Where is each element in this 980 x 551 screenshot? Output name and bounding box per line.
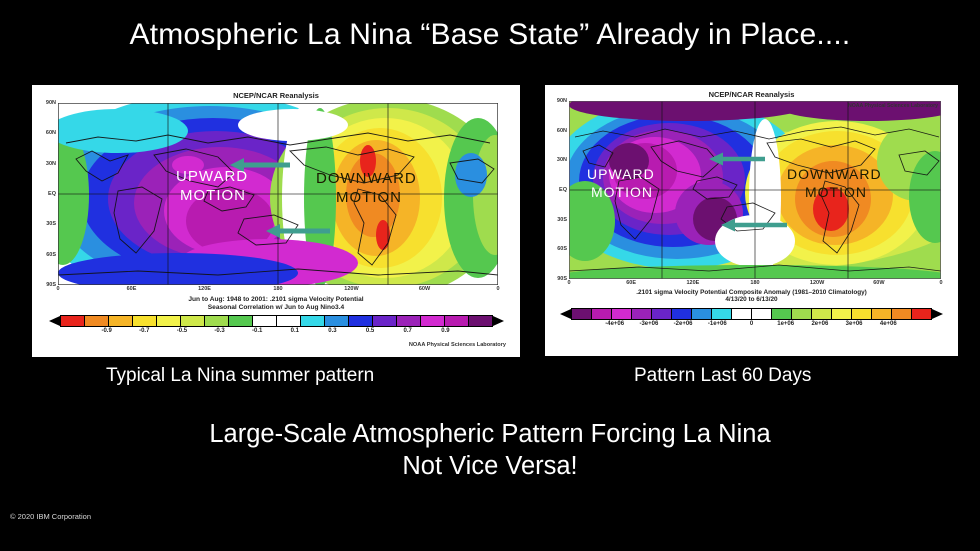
colorbar-swatch-10 xyxy=(772,309,792,319)
colorbar-swatch-5 xyxy=(672,309,692,319)
colorbar-caption-line2: Seasonal Correlation w/ Jun to Aug Nino3… xyxy=(32,304,520,312)
colorbar-swatch-2 xyxy=(612,309,632,319)
colorbar-swatch-16 xyxy=(892,309,912,319)
colorbar-swatch-0 xyxy=(572,309,592,319)
slide: Atmospheric La Nina “Base State” Already… xyxy=(0,0,980,551)
colorbar-swatch-9 xyxy=(752,309,772,319)
map-plot-left: UPWARD MOTION DOWNWARD MOTION 90N 60N 30… xyxy=(58,103,498,285)
y-tick-30s-left: 30S xyxy=(46,221,56,227)
x-tick-0-right: 0 xyxy=(567,280,570,286)
colorbar-tick-0: -0.9 xyxy=(101,328,111,334)
x-tick-60w-left: 60W xyxy=(419,286,430,292)
y-tick-eq-right: EQ xyxy=(559,187,567,193)
colorbar-tick-1: -3e+06 xyxy=(639,321,658,327)
colorbar-swatches-right xyxy=(571,308,932,320)
copyright-notice: © 2020 IBM Corporation xyxy=(10,512,91,521)
colorbar-tick-0: -4e+06 xyxy=(605,321,624,327)
colorbar-swatch-13 xyxy=(373,316,397,326)
y-tick-90s-left: 90S xyxy=(46,282,56,288)
colorbar-caption-right: .2101 sigma Velocity Potential Composite… xyxy=(545,289,958,304)
colorbar-swatch-6 xyxy=(692,309,712,319)
colorbar-swatch-10 xyxy=(301,316,325,326)
colorbar-swatch-7 xyxy=(712,309,732,319)
colorbar-caption-line1: Jun to Aug: 1948 to 2001: .2101 sigma Ve… xyxy=(32,296,520,304)
colorbar-swatch-3 xyxy=(133,316,157,326)
y-tick-60n-right: 60N xyxy=(557,128,567,134)
colorbar-swatch-12 xyxy=(349,316,373,326)
colorbar-cap-low-right xyxy=(560,309,571,319)
x-tick-360-right: 0 xyxy=(939,280,942,286)
colorbar-swatch-14 xyxy=(852,309,872,319)
panel-caption-right: Pattern Last 60 Days xyxy=(634,365,811,387)
x-tick-360-left: 0 xyxy=(496,286,499,292)
y-tick-90s-right: 90S xyxy=(557,276,567,282)
colorbar-swatch-15 xyxy=(872,309,892,319)
colorbar-swatch-9 xyxy=(277,316,301,326)
colorbar-swatch-4 xyxy=(652,309,672,319)
colorbar-swatches-left xyxy=(60,315,493,327)
y-tick-90n-left: 90N xyxy=(46,100,56,106)
colorbar-tick-3: -0.3 xyxy=(214,328,224,334)
upward-motion-label-left: UPWARD xyxy=(176,168,248,185)
bottom-heading-line2: Not Vice Versa! xyxy=(0,452,980,481)
colorbar-swatch-11 xyxy=(325,316,349,326)
colorbar-swatch-3 xyxy=(632,309,652,319)
colorbar-swatch-16 xyxy=(445,316,469,326)
downward-motion-label-left: DOWNWARD xyxy=(316,170,417,187)
x-tick-60w-right: 60W xyxy=(873,280,884,286)
colorbar-swatch-11 xyxy=(792,309,812,319)
noaa-credit-inmap-right: NOAA Physical Sciences Laboratory xyxy=(848,103,938,109)
colorbar-caption-line2: 4/13/20 to 6/13/20 xyxy=(545,296,958,303)
colorbar-tick-2: -0.5 xyxy=(177,328,187,334)
colorbar-swatch-8 xyxy=(253,316,277,326)
panel-caption-left: Typical La Nina summer pattern xyxy=(106,365,374,387)
svg-text:MOTION: MOTION xyxy=(336,189,402,206)
colorbar-tick-1: -0.7 xyxy=(139,328,149,334)
x-tick-120w-left: 120W xyxy=(344,286,358,292)
colorbar-tick-6: 2e+06 xyxy=(811,321,828,327)
colorbar-tick-4: 0 xyxy=(750,321,753,327)
noaa-credit-left: NOAA Physical Sciences Laboratory xyxy=(32,342,520,348)
colorbar-swatch-8 xyxy=(732,309,752,319)
x-tick-120e-right: 120E xyxy=(686,280,699,286)
colorbar-swatch-7 xyxy=(229,316,253,326)
figure-panel-right: NCEP/NCAR Reanalysis xyxy=(545,85,958,356)
colorbar-tick-2: -2e+06 xyxy=(674,321,693,327)
y-tick-60n-left: 60N xyxy=(46,130,56,136)
upward-motion-label-right: UPWARD xyxy=(587,166,655,182)
colorbar-tick-7: 3e+06 xyxy=(846,321,863,327)
x-tick-120w-right: 120W xyxy=(810,280,824,286)
colorbar-tick-3: -1e+06 xyxy=(708,321,727,327)
y-tick-60s-left: 60S xyxy=(46,252,56,258)
colorbar-tick-6: 0.3 xyxy=(328,328,336,334)
x-tick-60e-right: 60E xyxy=(626,280,636,286)
y-tick-90n-right: 90N xyxy=(557,98,567,104)
colorbar-swatch-2 xyxy=(109,316,133,326)
colorbar-swatch-15 xyxy=(421,316,445,326)
downward-motion-label-right: DOWNWARD xyxy=(787,166,882,182)
colorbar-cap-low-left xyxy=(49,316,60,326)
colorbar-swatch-1 xyxy=(85,316,109,326)
colorbar-swatch-5 xyxy=(181,316,205,326)
svg-text:MOTION: MOTION xyxy=(805,184,867,200)
colorbar-swatch-14 xyxy=(397,316,421,326)
colorbar-swatch-0 xyxy=(61,316,85,326)
colorbar-tick-8: 4e+06 xyxy=(880,321,897,327)
x-tick-0-left: 0 xyxy=(56,286,59,292)
colorbar-swatch-13 xyxy=(832,309,852,319)
y-tick-30n-right: 30N xyxy=(557,157,567,163)
colorbar-swatch-17 xyxy=(469,316,492,326)
colorbar-swatch-6 xyxy=(205,316,229,326)
y-tick-30n-left: 30N xyxy=(46,161,56,167)
colorbar-cap-high-right xyxy=(932,309,943,319)
colorbar-tick-4: -0.1 xyxy=(252,328,262,334)
x-tick-60e-left: 60E xyxy=(127,286,137,292)
colorbar-swatch-12 xyxy=(812,309,832,319)
y-tick-30s-right: 30S xyxy=(557,217,567,223)
figure-panel-left: NCEP/NCAR Reanalysis xyxy=(32,85,520,357)
colorbar-right xyxy=(545,308,958,320)
colorbar-tick-5: 0.1 xyxy=(291,328,299,334)
colorbar-ticks-left: -0.9-0.7-0.5-0.3-0.10.10.30.50.70.9 xyxy=(32,328,520,337)
x-tick-180-right: 180 xyxy=(750,280,759,286)
colorbar-caption-left: Jun to Aug: 1948 to 2001: .2101 sigma Ve… xyxy=(32,296,520,311)
colorbar-tick-9: 0.9 xyxy=(441,328,449,334)
y-tick-60s-right: 60S xyxy=(557,246,567,252)
colorbar-tick-7: 0.5 xyxy=(366,328,374,334)
y-tick-eq-left: EQ xyxy=(48,191,56,197)
colorbar-tick-8: 0.7 xyxy=(404,328,412,334)
x-tick-180-left: 180 xyxy=(273,286,282,292)
map-plot-right: UPWARD MOTION DOWNWARD MOTION NOAA Physi… xyxy=(569,101,941,279)
figure-header-right: NCEP/NCAR Reanalysis xyxy=(545,85,958,99)
colorbar-caption-line1: .2101 sigma Velocity Potential Composite… xyxy=(545,289,958,296)
colorbar-tick-5: 1e+06 xyxy=(777,321,794,327)
map-svg-left: UPWARD MOTION DOWNWARD MOTION xyxy=(58,103,498,285)
svg-text:MOTION: MOTION xyxy=(591,184,653,200)
map-svg-right: UPWARD MOTION DOWNWARD MOTION xyxy=(569,101,941,279)
colorbar-ticks-right: -4e+06-3e+06-2e+06-1e+0601e+062e+063e+06… xyxy=(545,321,958,330)
colorbar-swatch-1 xyxy=(592,309,612,319)
svg-text:MOTION: MOTION xyxy=(180,187,246,204)
colorbar-left xyxy=(32,315,520,327)
colorbar-swatch-17 xyxy=(912,309,931,319)
x-tick-120e-left: 120E xyxy=(198,286,211,292)
colorbar-swatch-4 xyxy=(157,316,181,326)
colorbar-cap-high-left xyxy=(493,316,504,326)
figure-header-left: NCEP/NCAR Reanalysis xyxy=(32,85,520,100)
bottom-heading-line1: Large-Scale Atmospheric Pattern Forcing … xyxy=(0,420,980,449)
page-title: Atmospheric La Nina “Base State” Already… xyxy=(0,18,980,52)
